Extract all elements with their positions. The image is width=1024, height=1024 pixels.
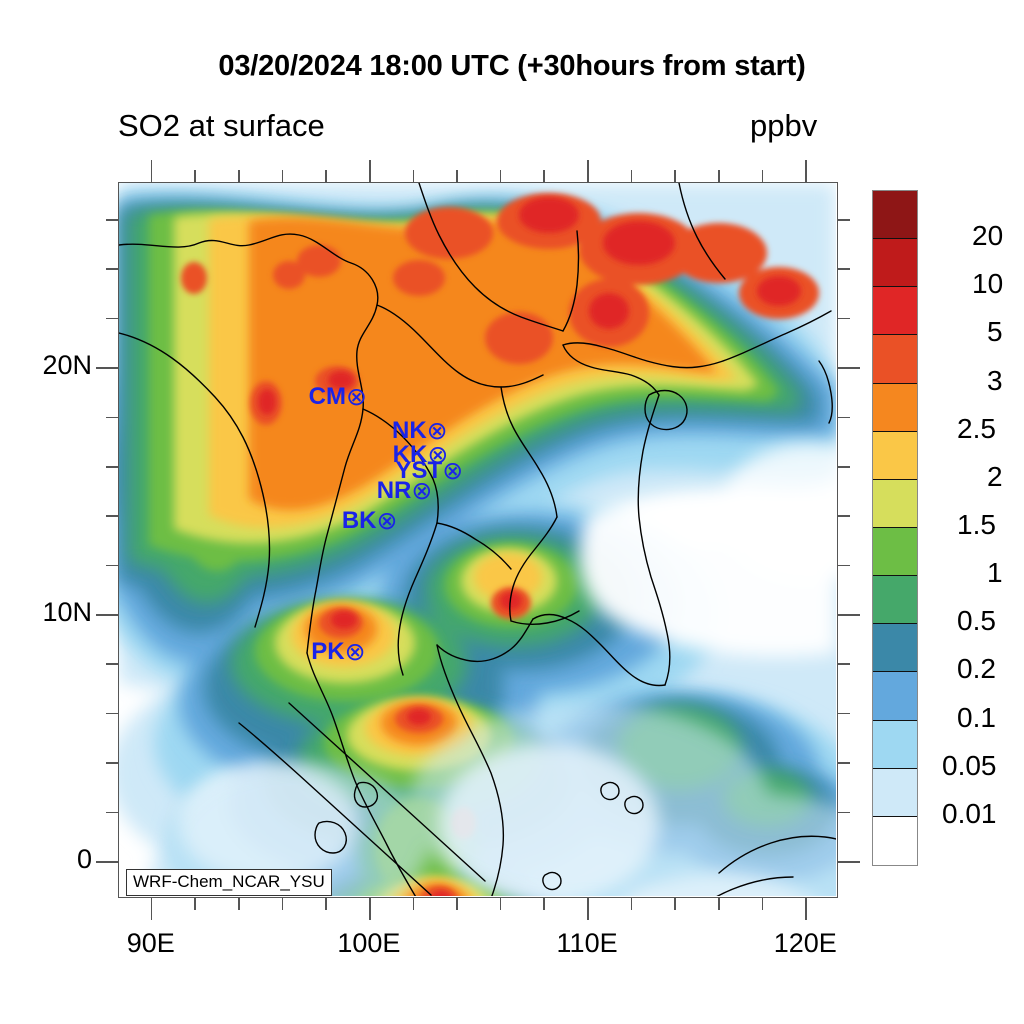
colorbar-cell: [873, 576, 917, 624]
station-point-icon: ⊗: [376, 509, 397, 534]
colorbar-tick-label: 0.2: [957, 653, 996, 685]
colorbar-cell: [873, 432, 917, 480]
colorbar-tick-label: 5: [987, 316, 1003, 348]
colorbar-cell: [873, 191, 917, 239]
colorbar-tick-label: 3: [987, 365, 1003, 397]
station-marker-cm: CM⊗: [309, 384, 367, 409]
colorbar-cell: [873, 672, 917, 720]
station-label: CM: [309, 383, 346, 410]
colorbar[interactable]: [872, 190, 918, 866]
colorbar-tick-label: 1.5: [957, 509, 996, 541]
colorbar-tick-label: 2.5: [957, 413, 996, 445]
colorbar-cell: [873, 624, 917, 672]
colorbar-cell: [873, 480, 917, 528]
station-marker-pk: PK⊗: [311, 639, 365, 664]
colorbar-cell: [873, 287, 917, 335]
station-label: NK: [392, 417, 427, 444]
station-marker-bk: BK⊗: [342, 508, 398, 533]
station-label: BK: [342, 507, 377, 534]
colorbar-cell: [873, 817, 917, 865]
colorbar-tick-label: 10: [972, 268, 1003, 300]
colorbar-cell: [873, 721, 917, 769]
station-marker-nr: NR⊗: [377, 478, 433, 503]
colorbar-tick-label: 2: [987, 461, 1003, 493]
station-label: PK: [311, 638, 344, 665]
colorbar-cell: [873, 335, 917, 383]
station-point-icon: ⊗: [345, 640, 366, 665]
station-point-icon: ⊗: [411, 479, 432, 504]
colorbar-tick-label: 0.05: [942, 750, 997, 782]
colorbar-cell: [873, 384, 917, 432]
station-marker-nk: NK⊗: [392, 418, 448, 443]
colorbar-labels: 2010532.521.510.50.20.10.050.01: [940, 190, 1024, 864]
station-point-icon: ⊗: [442, 459, 463, 484]
colorbar-tick-label: 20: [972, 220, 1003, 252]
colorbar-tick-label: 0.01: [942, 798, 997, 830]
colorbar-tick-label: 1: [987, 557, 1003, 589]
colorbar-tick-label: 0.5: [957, 605, 996, 637]
colorbar-cell: [873, 769, 917, 817]
station-label: NR: [377, 477, 412, 504]
colorbar-tick-label: 0.1: [957, 702, 996, 734]
colorbar-cell: [873, 528, 917, 576]
model-watermark: WRF-Chem_NCAR_YSU: [126, 869, 332, 896]
station-point-icon: ⊗: [346, 385, 367, 410]
colorbar-cell: [873, 239, 917, 287]
